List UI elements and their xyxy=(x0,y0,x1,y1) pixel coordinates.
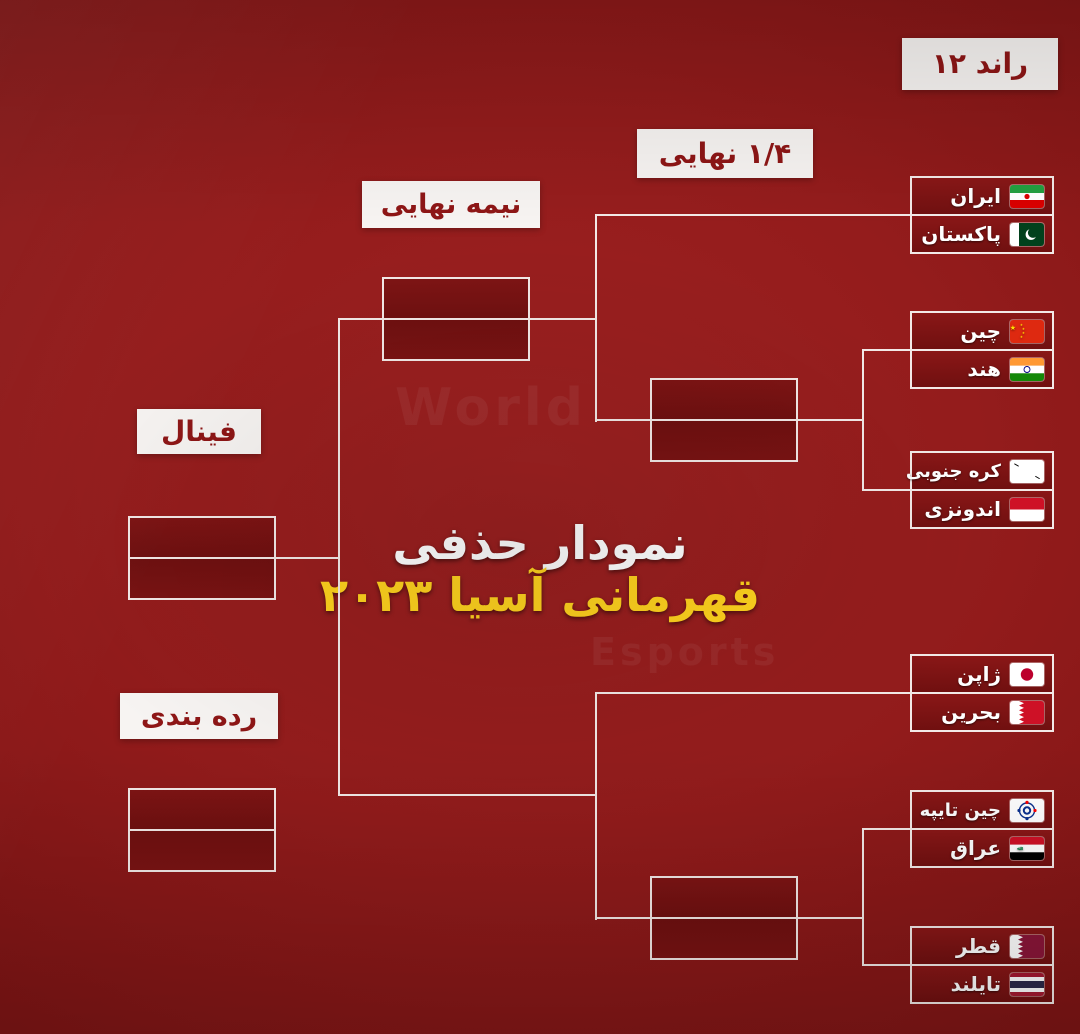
indonesia-flag xyxy=(1010,498,1044,521)
round-label-third-place: رده بندی xyxy=(120,693,278,739)
match-qf-top[interactable] xyxy=(650,378,798,462)
team-slot[interactable] xyxy=(130,558,274,598)
watermark-bottom: Esports xyxy=(590,630,779,674)
team-name: چین تایپه xyxy=(920,800,1001,821)
iran-flag xyxy=(1010,185,1044,208)
thailand-flag xyxy=(1010,973,1044,996)
bracket-canvas: World Esports راند ۱۲ ۱/۴ نهایی نیمه نها… xyxy=(0,0,1080,1034)
iraq-flag: ﷲ xyxy=(1010,837,1044,860)
match-r12-m6[interactable]: قطر تایلند xyxy=(910,926,1054,1004)
connector-qf-top-in xyxy=(595,419,652,421)
team-slot[interactable] xyxy=(384,279,528,319)
team-name: پاکستان xyxy=(921,222,1001,246)
team-slot[interactable] xyxy=(130,518,274,558)
connector-qf-top-feed xyxy=(798,419,864,421)
team-slot[interactable]: هند xyxy=(912,349,1052,387)
team-slot[interactable]: پاکستان xyxy=(912,214,1052,252)
team-name: چین xyxy=(922,319,1001,343)
team-name: اندونزی xyxy=(922,497,1001,521)
team-slot[interactable]: بحرین xyxy=(912,692,1052,730)
pakistan-flag xyxy=(1010,223,1044,246)
match-r12-m3[interactable]: کره جنوبی اندونزی xyxy=(910,451,1054,529)
match-r12-m5[interactable]: چین تایپه ﷲ عراق xyxy=(910,790,1054,868)
china-flag: ★★★★★ xyxy=(1010,320,1044,343)
connector-semi-in-top xyxy=(530,318,596,320)
team-name: عراق xyxy=(922,836,1001,860)
match-semi-final[interactable] xyxy=(382,277,530,361)
team-slot[interactable]: چین تایپه xyxy=(912,792,1052,828)
watermark-center: World xyxy=(395,378,587,438)
svg-text:★: ★ xyxy=(1010,324,1016,332)
round-label-round-of-12: راند ۱۲ xyxy=(902,38,1058,90)
round-label-semi-final: نیمه نهایی xyxy=(362,181,540,228)
japan-flag xyxy=(1010,663,1044,686)
south-korea-flag xyxy=(1010,460,1044,483)
team-slot[interactable]: تایلند xyxy=(912,964,1052,1002)
team-name: هند xyxy=(922,357,1001,381)
team-name: ژاپن xyxy=(922,662,1001,686)
connector-m6-out xyxy=(862,964,912,966)
round-label-final: فینال xyxy=(137,409,261,454)
connector-m2-out xyxy=(862,349,912,351)
connector-qf-bottom-feed xyxy=(798,917,864,919)
match-r12-m2[interactable]: ★★★★★ چین هند xyxy=(910,311,1054,389)
connector-m5-out xyxy=(862,828,912,830)
svg-text:★: ★ xyxy=(1020,335,1023,339)
team-slot[interactable] xyxy=(130,830,274,870)
team-slot[interactable] xyxy=(652,878,796,918)
team-slot[interactable]: اندونزی xyxy=(912,489,1052,527)
team-slot[interactable]: کره جنوبی xyxy=(912,453,1052,489)
match-final[interactable] xyxy=(128,516,276,600)
connector-qf-bottom-out xyxy=(338,794,596,796)
team-slot[interactable] xyxy=(652,380,796,420)
team-name: کره جنوبی xyxy=(906,461,1001,482)
team-slot[interactable]: ﷲ عراق xyxy=(912,828,1052,866)
india-flag xyxy=(1010,358,1044,381)
team-slot[interactable] xyxy=(652,918,796,958)
team-slot[interactable]: ★★★★★ چین xyxy=(912,313,1052,349)
match-qf-bottom[interactable] xyxy=(650,876,798,960)
team-slot[interactable]: ژاپن xyxy=(912,656,1052,692)
match-r12-m1[interactable]: ایران پاکستان xyxy=(910,176,1054,254)
connector-qf-bottom-in xyxy=(595,917,652,919)
team-name: ایران xyxy=(922,184,1001,208)
connector-m3-out xyxy=(862,489,912,491)
connector-final-in xyxy=(276,557,340,559)
team-name: تایلند xyxy=(922,972,1001,996)
qatar-flag xyxy=(1010,935,1044,958)
team-slot[interactable] xyxy=(130,790,274,830)
match-r12-m4[interactable]: ژاپن بحرین xyxy=(910,654,1054,732)
connector-qf-bottom-vertical xyxy=(595,692,597,920)
round-label-quarter-final: ۱/۴ نهایی xyxy=(637,129,813,178)
connector-semi-out xyxy=(338,318,384,320)
chinese-taipei-flag xyxy=(1010,799,1044,822)
team-slot[interactable]: قطر xyxy=(912,928,1052,964)
team-name: قطر xyxy=(922,934,1001,958)
team-slot[interactable] xyxy=(652,420,796,460)
connector-m5-m6-vertical xyxy=(862,828,864,966)
match-third-place[interactable] xyxy=(128,788,276,872)
connector-m4-out xyxy=(595,692,910,694)
team-name: بحرین xyxy=(922,700,1001,724)
bahrain-flag xyxy=(1010,701,1044,724)
team-slot[interactable] xyxy=(384,319,528,359)
connector-m1-out xyxy=(595,214,910,216)
team-slot[interactable]: ایران xyxy=(912,178,1052,214)
